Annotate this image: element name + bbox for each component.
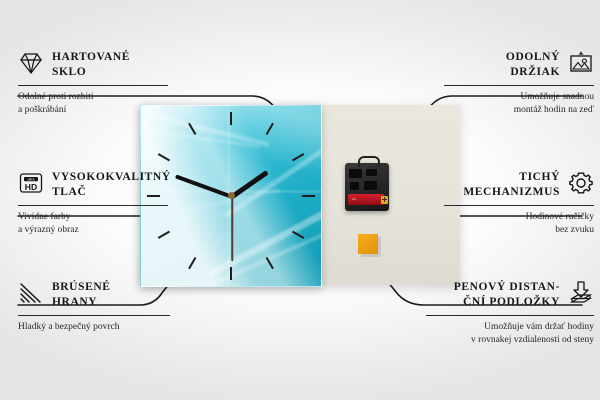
battery-plus-terminal	[381, 196, 388, 204]
divider	[18, 315, 170, 316]
divider	[444, 85, 594, 86]
diagonal-lines-icon	[18, 280, 44, 306]
clock-minute-hand	[175, 174, 235, 199]
divider	[444, 205, 594, 206]
feature-subtitle: Umožňuje snadnou montáž hodin na zeď	[444, 91, 594, 116]
battery: AA	[348, 194, 384, 205]
feature-title: TICHÝ MECHANIZMUS	[463, 170, 560, 200]
press-down-stack-icon	[568, 280, 594, 306]
feature-ground-edges: BRÚSENÉ HRANY Hladký a bezpečný povrch	[18, 280, 170, 334]
feature-title: PENOVÝ DISTAN- ČNÍ PODLOŽKY	[454, 280, 560, 310]
product-photo: AA	[140, 105, 460, 285]
hanging-picture-icon	[568, 50, 594, 76]
feature-subtitle: Odolné proti rozbití a poškrábání	[18, 91, 168, 116]
feature-silent-mechanism: TICHÝ MECHANIZMUS Hodinové ručičky bez z…	[444, 170, 594, 236]
feature-subtitle: Vivídne farby a výrazný obraz	[18, 211, 168, 236]
divider	[18, 85, 168, 86]
divider	[426, 315, 594, 316]
feature-title: BRÚSENÉ HRANY	[52, 280, 111, 310]
feature-subtitle: Hodinové ručičky bez zvuku	[444, 211, 594, 236]
ultra-hd-icon: ultra HD	[18, 170, 44, 196]
feature-title: VYSOKOKVALITNÝ TLAČ	[52, 170, 171, 200]
feature-subtitle: Hladký a bezpečný povrch	[18, 321, 170, 334]
divider	[18, 205, 168, 206]
movement-hanger-hook	[358, 156, 380, 167]
clock-center-cap	[228, 192, 235, 199]
diamond-icon	[18, 50, 44, 76]
feature-hd-print: ultra HD VYSOKOKVALITNÝ TLAČ Vivídne far…	[18, 170, 168, 236]
clock-movement: AA	[345, 163, 389, 211]
battery-label: AA	[352, 197, 357, 201]
foam-distance-pad	[358, 234, 378, 254]
feature-title: ODOLNÝ DRŽIAK	[506, 50, 560, 80]
svg-text:HD: HD	[25, 182, 37, 192]
infographic-canvas: AA HARTOVANÉ SKLO Odolné proti	[0, 0, 600, 400]
feature-foam-spacers: PENOVÝ DISTAN- ČNÍ PODLOŽKY Umožňuje vám…	[426, 280, 594, 346]
clock-second-hand	[232, 195, 234, 261]
feature-tempered-glass: HARTOVANÉ SKLO Odolné proti rozbití a po…	[18, 50, 168, 116]
gear-icon	[568, 170, 594, 196]
feature-title: HARTOVANÉ SKLO	[52, 50, 130, 80]
feature-subtitle: Umožňuje vám držať hodiny v rovnakej vzd…	[426, 321, 594, 346]
feature-durable-hanger: ODOLNÝ DRŽIAK Umožňuje snadnou montáž ho…	[444, 50, 594, 116]
